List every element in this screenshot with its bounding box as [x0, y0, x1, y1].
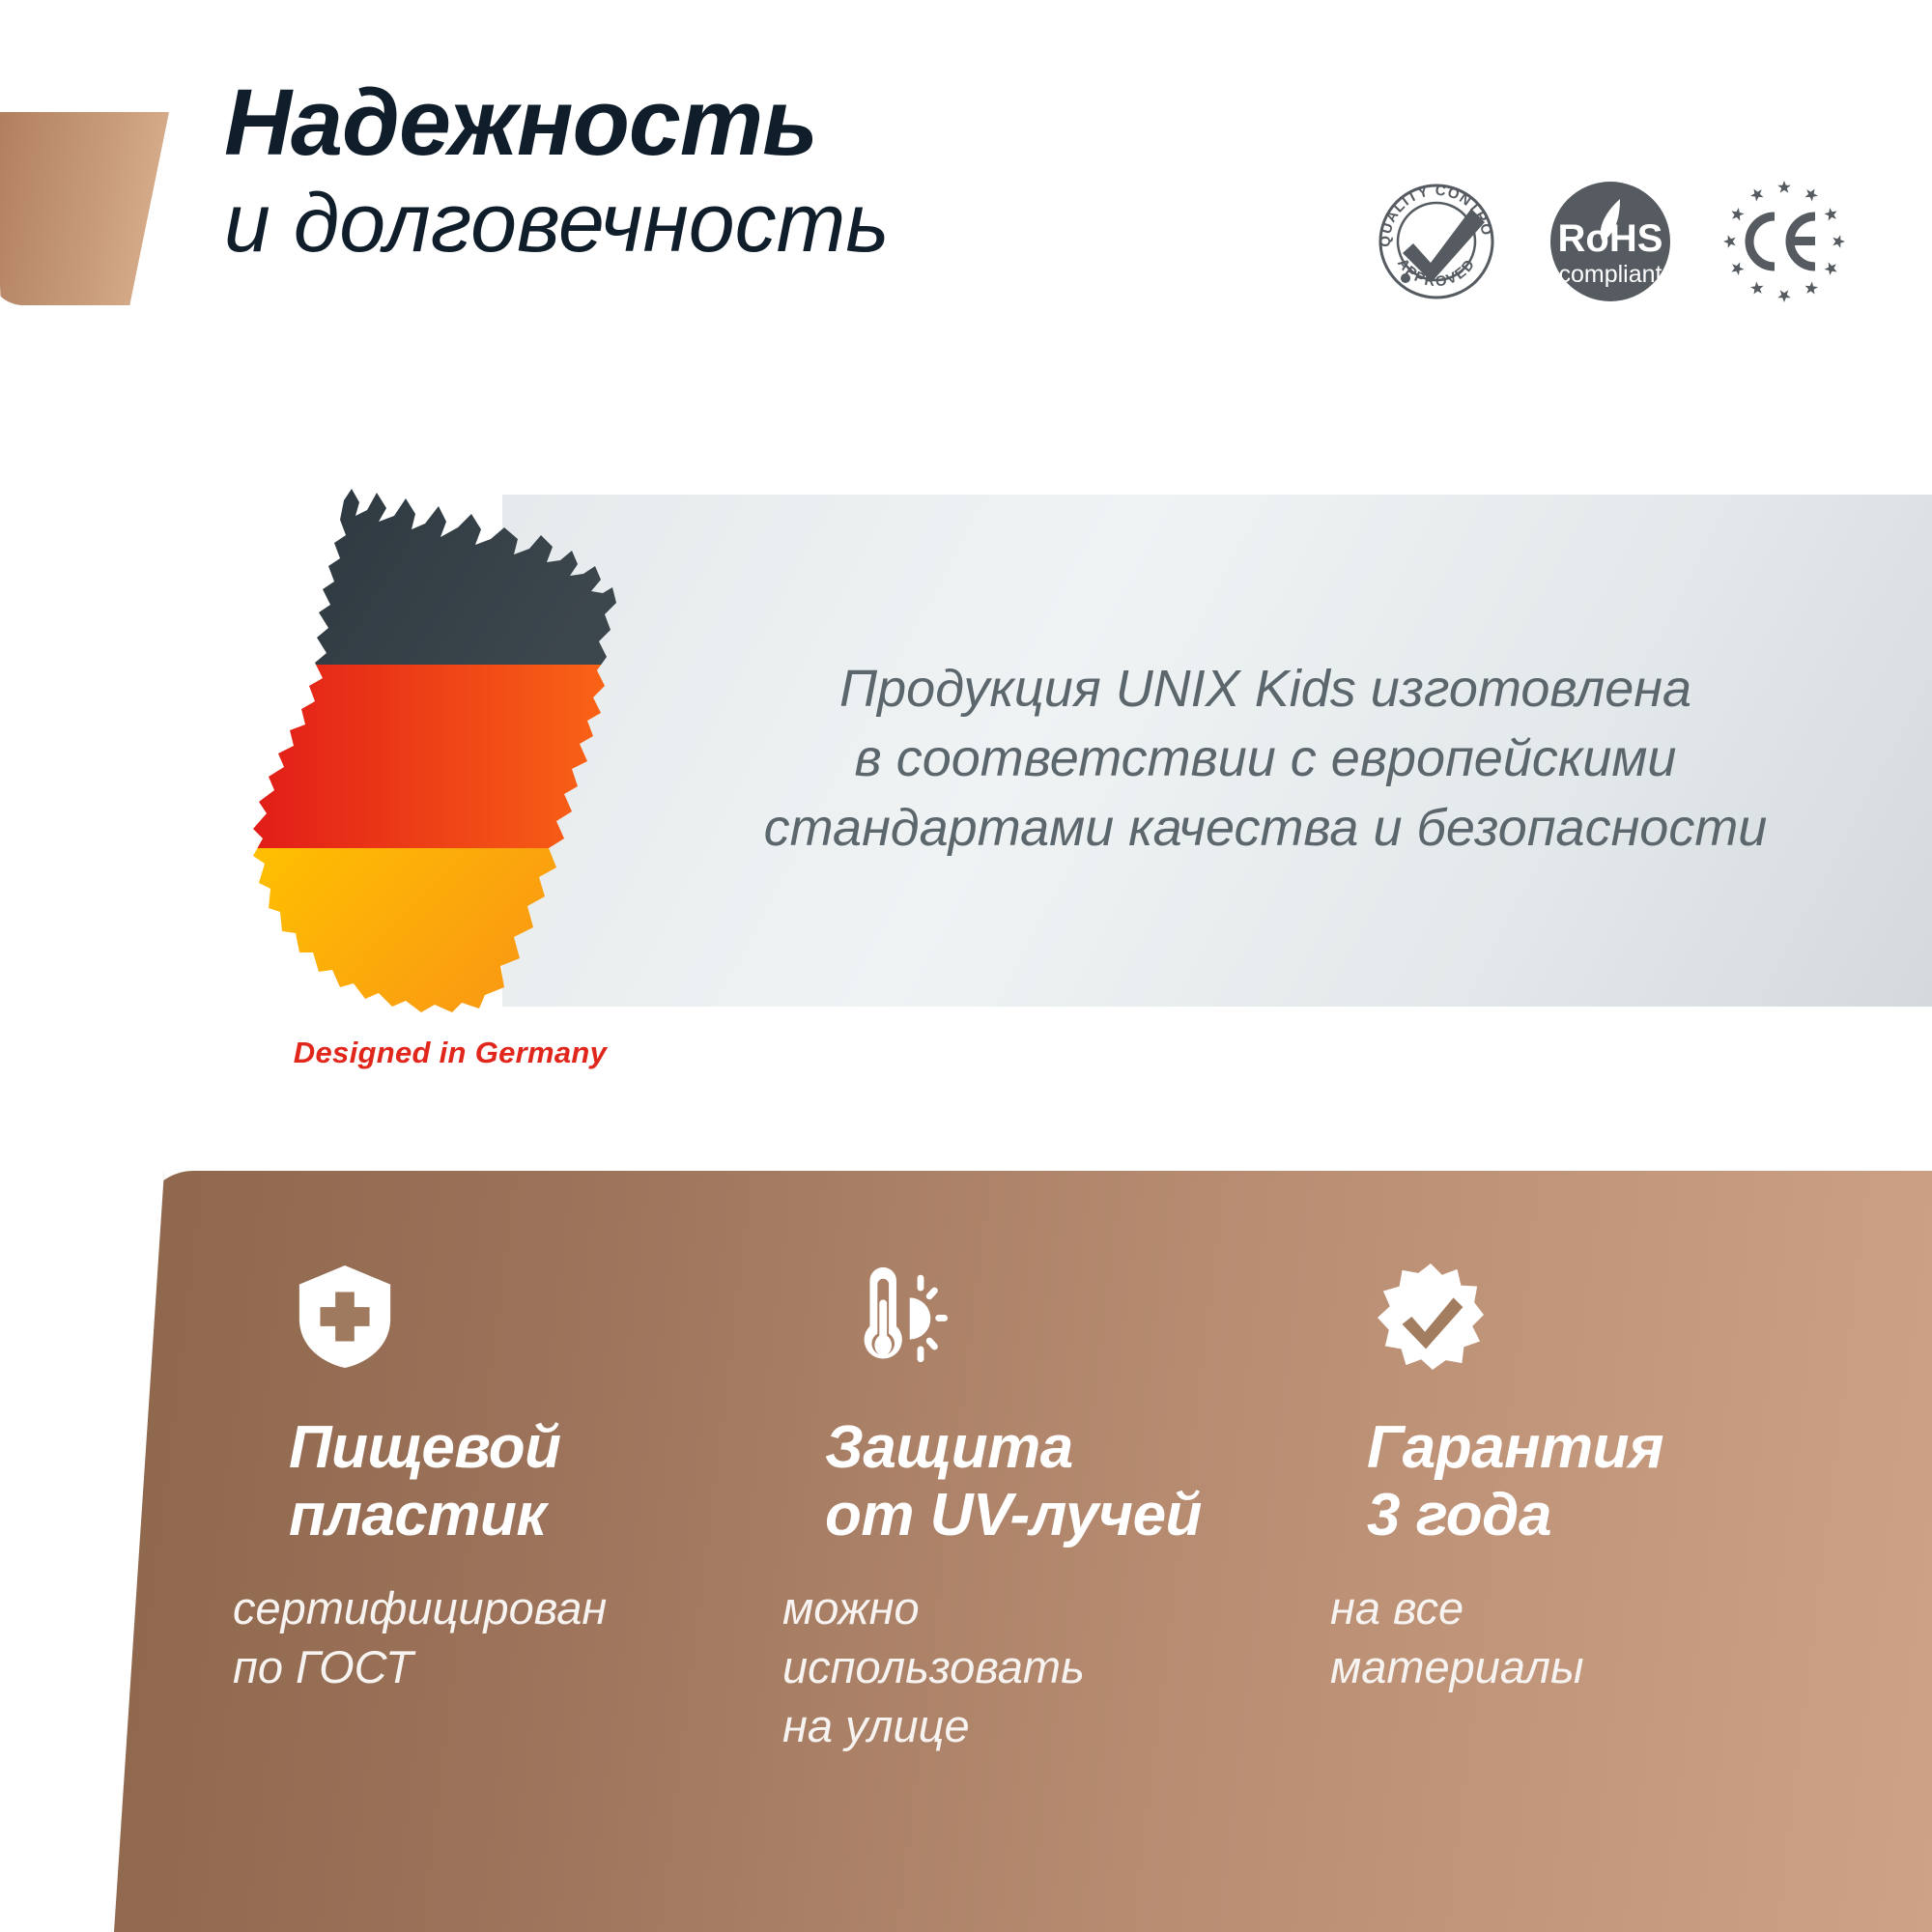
feature-2-title-line-1: Защита [825, 1414, 1294, 1482]
svg-text:QUALITY CONTROL: QUALITY CONTROL [1371, 176, 1495, 247]
feature-3-sub-line-1: на все [1330, 1578, 1831, 1637]
feature-2-title: Защита от UV-лучей [825, 1414, 1294, 1549]
feature-3-sub-line-2: материалы [1330, 1637, 1831, 1696]
feature-1-title: Пищевой пластик [289, 1414, 749, 1549]
feature-2-sub-line-1: можно [782, 1578, 1294, 1637]
title-line-2: и долговечность [224, 177, 890, 270]
quality-control-approved-badge: QUALITY CONTROL APPROVED [1371, 176, 1502, 307]
poster-canvas: Надежность и долговечность QUALITY CONTR… [0, 0, 1932, 1932]
rohs-compliant-badge: RoHS compliant [1547, 178, 1674, 305]
feature-1-sub-line-1: сертифицирован [233, 1578, 749, 1637]
feature-1-subtitle: сертифицирован по ГОСТ [233, 1578, 749, 1696]
info-line-2: в соответствии с европейскими [667, 724, 1864, 794]
feature-food-grade-plastic: Пищевой пластик сертифицирован по ГОСТ [295, 1264, 749, 1696]
feature-1-title-line-1: Пищевой [289, 1414, 749, 1482]
feature-uv-protection: Защита от UV-лучей можно использовать на… [840, 1264, 1294, 1755]
info-line-3: стандартами качества и безопасности [667, 794, 1864, 864]
shield-cross-icon [295, 1264, 395, 1370]
standards-info-text: Продукция UNIX Kids изготовлена в соотве… [667, 655, 1864, 863]
feature-2-sub-line-2: использовать [782, 1637, 1294, 1696]
feature-1-sub-line-2: по ГОСТ [233, 1637, 749, 1696]
feature-warranty: Гарантия 3 года на все материалы [1377, 1264, 1831, 1696]
svg-text:compliant: compliant [1559, 261, 1662, 288]
certification-badges: QUALITY CONTROL APPROVED RoHS compliant [1371, 176, 1850, 307]
feature-3-subtitle: на все материалы [1330, 1578, 1831, 1696]
header: Надежность и долговечность QUALITY CONTR… [0, 0, 1932, 319]
designed-in-germany-caption: Designed in Germany [247, 1036, 653, 1070]
germany-flag-map [232, 471, 638, 1022]
title-line-1: Надежность [224, 75, 890, 171]
feature-2-subtitle: можно использовать на улице [782, 1578, 1294, 1755]
feature-3-title-line-2: 3 года [1367, 1482, 1831, 1549]
thermometer-sun-icon [840, 1264, 949, 1370]
features-list: Пищевой пластик сертифицирован по ГОСТ [0, 1171, 1932, 1932]
feature-3-title-line-1: Гарантия [1367, 1414, 1831, 1482]
feature-2-title-line-2: от UV-лучей [825, 1482, 1294, 1549]
svg-text:RoHS: RoHS [1558, 217, 1663, 260]
starburst-check-icon [1377, 1264, 1485, 1370]
feature-2-sub-line-3: на улице [782, 1696, 1294, 1755]
info-line-1: Продукция UNIX Kids изготовлена [667, 655, 1864, 724]
page-title: Надежность и долговечность [224, 75, 890, 270]
feature-1-title-line-2: пластик [289, 1482, 749, 1549]
feature-3-title: Гарантия 3 года [1367, 1414, 1831, 1549]
ce-mark-badge [1719, 176, 1850, 307]
